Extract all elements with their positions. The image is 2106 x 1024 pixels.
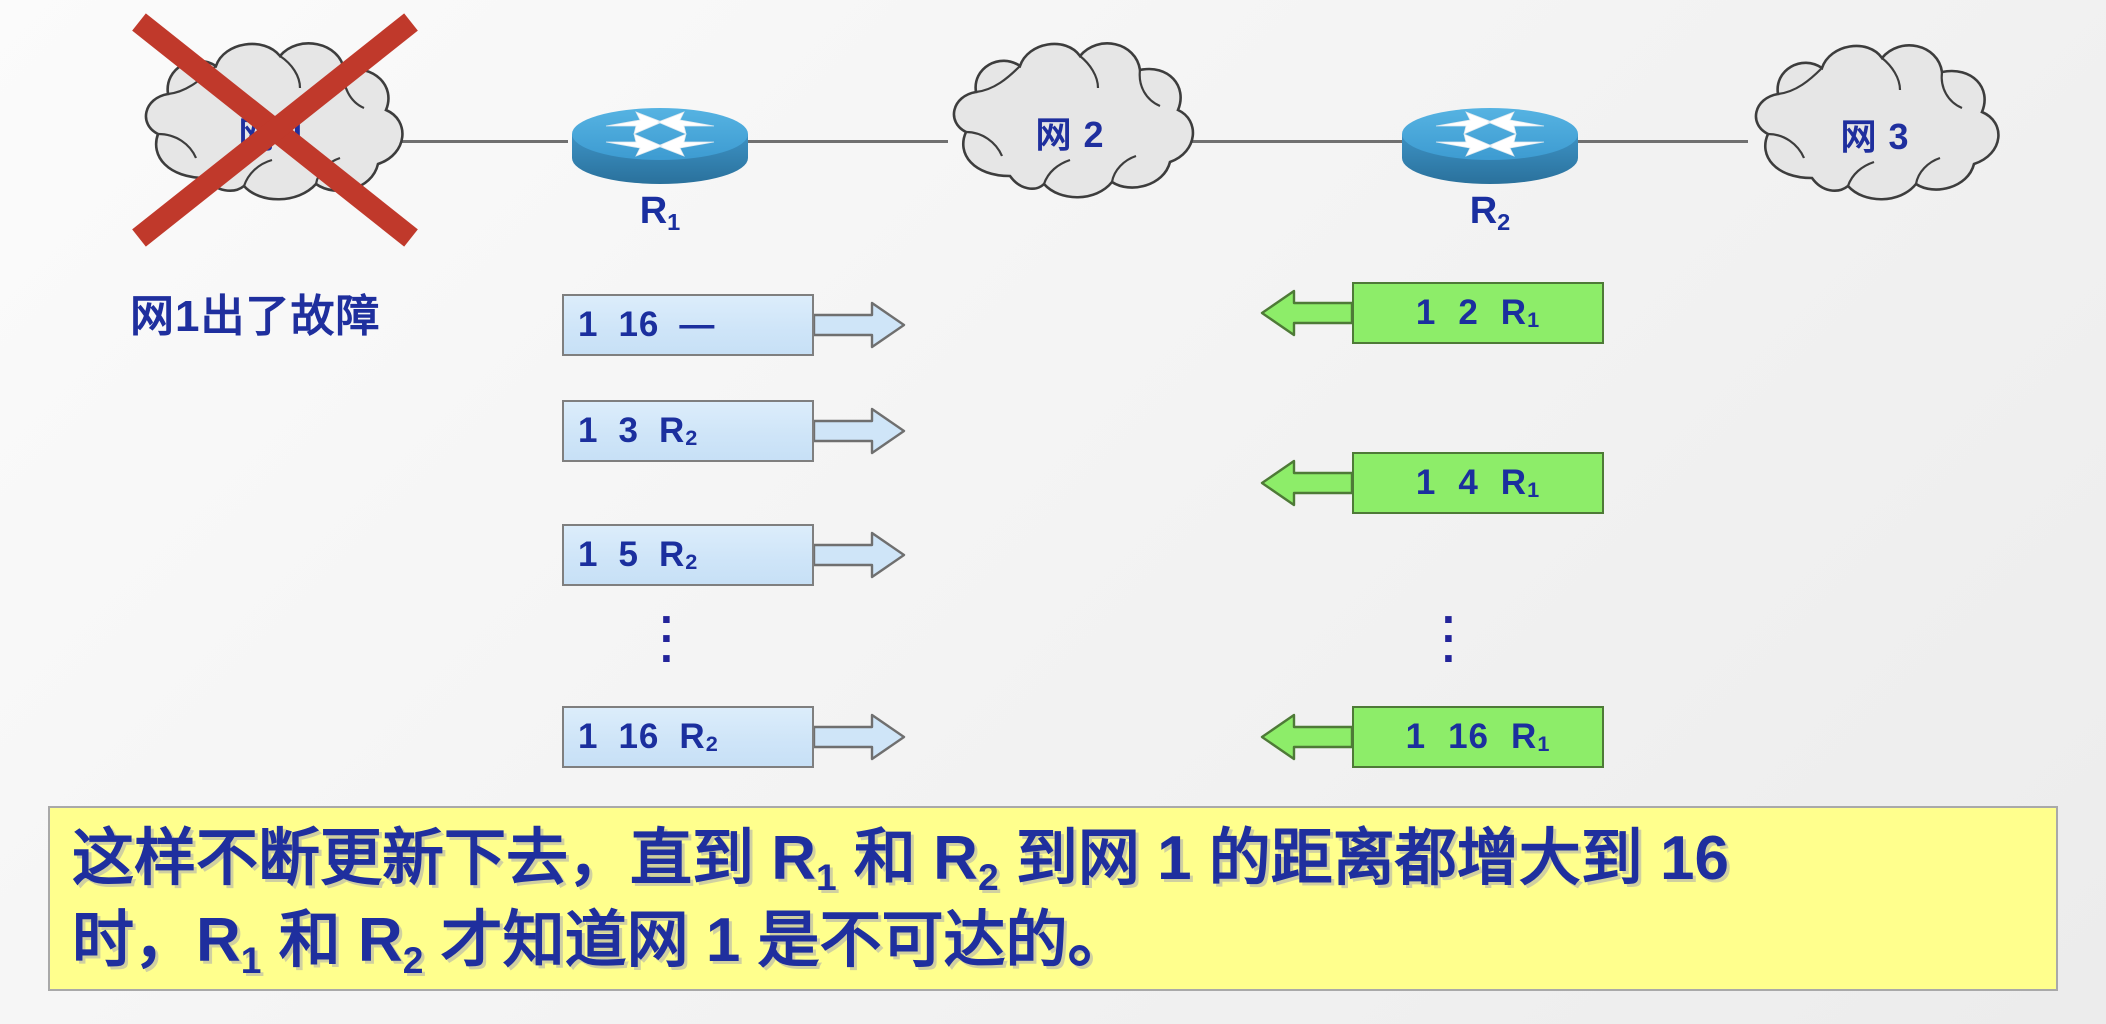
arrow-right-icon xyxy=(814,407,906,455)
cloud-net2: 网 2 xyxy=(940,28,1200,218)
msg-net: 1 xyxy=(1406,717,1426,757)
router-r2-name: R xyxy=(1470,190,1497,232)
message-box-green: 1 16 R1 xyxy=(1352,706,1604,768)
msg-net: 1 xyxy=(578,717,598,757)
message-box-green: 1 2 R1 xyxy=(1352,282,1604,344)
router-r1-label: R1 xyxy=(570,190,750,233)
caption-text: 和 R xyxy=(837,824,978,893)
cloud-net3-label: 网 3 xyxy=(1740,108,2010,160)
msg-distance: 16 xyxy=(618,305,659,345)
caption-text: 到网 1 的距离都增大到 16 xyxy=(999,824,1729,893)
caption-text: 才知道网 1 是不可达的。 xyxy=(423,906,1129,975)
msg-nexthop: R xyxy=(1501,293,1527,333)
msg-nexthop: R xyxy=(1511,717,1537,757)
caption-sub: 2 xyxy=(978,856,999,898)
msg-distance: 5 xyxy=(618,535,638,575)
ellipsis-right: · · · xyxy=(1442,610,1457,668)
router-r1-name: R xyxy=(640,190,667,232)
msg-nexthop-sub: 1 xyxy=(1537,731,1550,757)
message-row-left-1: 1 16 — xyxy=(562,294,906,356)
router-r1: R1 xyxy=(570,100,750,190)
caption-text: 时，R xyxy=(72,906,241,975)
message-box-green: 1 4 R1 xyxy=(1352,452,1604,514)
ellipsis-left: · · · xyxy=(660,610,675,668)
message-box-blue: 1 16 R2 xyxy=(562,706,814,768)
cloud-net2-label: 网 2 xyxy=(940,106,1200,158)
cloud-net1-label: 网 1 xyxy=(128,106,418,158)
dot: · xyxy=(660,649,675,668)
message-box-blue: 1 3 R2 xyxy=(562,400,814,462)
arrow-right-icon xyxy=(814,301,906,349)
msg-distance: 2 xyxy=(1458,293,1478,333)
message-row-left-2: 1 3 R2 xyxy=(562,400,906,462)
message-row-right-1: 1 2 R1 xyxy=(1260,282,1604,344)
msg-nexthop-sub: 1 xyxy=(1527,307,1540,333)
failure-note: 网1出了故障 xyxy=(130,280,380,344)
cloud-net3: 网 3 xyxy=(1740,28,2010,218)
msg-distance: 4 xyxy=(1458,463,1478,503)
link-net2-r2 xyxy=(1190,140,1410,143)
msg-nexthop-sub: 1 xyxy=(1527,477,1540,503)
msg-nexthop: R xyxy=(659,411,685,451)
link-net1-r1 xyxy=(402,140,568,143)
msg-net: 1 xyxy=(1416,463,1436,503)
router-r1-index: 1 xyxy=(667,209,680,235)
message-row-left-4: 1 16 R2 xyxy=(562,706,906,768)
msg-net: 1 xyxy=(578,305,598,345)
message-row-left-3: 1 5 R2 xyxy=(562,524,906,586)
msg-net: 1 xyxy=(578,535,598,575)
caption-line-1: 这样不断更新下去，直到 R1 和 R2 到网 1 的距离都增大到 16 xyxy=(72,818,2034,900)
msg-net: 1 xyxy=(578,411,598,451)
arrow-left-icon xyxy=(1260,713,1352,761)
caption-sub: 2 xyxy=(403,939,424,981)
msg-net: 1 xyxy=(1416,293,1436,333)
slide-canvas: 网 1 xyxy=(0,0,2106,1024)
arrow-left-icon xyxy=(1260,289,1352,337)
router-r2-label: R2 xyxy=(1400,190,1580,233)
caption-box: 这样不断更新下去，直到 R1 和 R2 到网 1 的距离都增大到 16 时，R1… xyxy=(48,806,2058,991)
msg-nexthop-sub: 2 xyxy=(706,731,719,757)
message-box-blue: 1 16 — xyxy=(562,294,814,356)
caption-text: 这样不断更新下去，直到 R xyxy=(72,824,816,893)
arrow-left-icon xyxy=(1260,459,1352,507)
msg-nexthop-sub: 2 xyxy=(685,425,698,451)
caption-text: 和 R xyxy=(261,906,402,975)
msg-nexthop: R xyxy=(659,535,685,575)
msg-distance: 16 xyxy=(1448,717,1489,757)
msg-nexthop: — xyxy=(679,305,715,345)
dot: · xyxy=(1442,649,1457,668)
router-r2: R2 xyxy=(1400,100,1580,190)
router-r2-index: 2 xyxy=(1497,209,1510,235)
message-row-right-2: 1 4 R1 xyxy=(1260,452,1604,514)
caption-line-2: 时，R1 和 R2 才知道网 1 是不可达的。 xyxy=(72,900,2034,982)
msg-nexthop: R xyxy=(679,717,705,757)
msg-nexthop-sub: 2 xyxy=(685,549,698,575)
msg-nexthop: R xyxy=(1501,463,1527,503)
message-row-right-3: 1 16 R1 xyxy=(1260,706,1604,768)
caption-sub: 1 xyxy=(816,856,837,898)
msg-distance: 16 xyxy=(618,717,659,757)
arrow-right-icon xyxy=(814,531,906,579)
cloud-net1: 网 1 xyxy=(128,28,418,218)
caption-sub: 1 xyxy=(241,939,262,981)
message-box-blue: 1 5 R2 xyxy=(562,524,814,586)
link-r1-net2 xyxy=(748,140,948,143)
link-r2-net3 xyxy=(1578,140,1748,143)
msg-distance: 3 xyxy=(618,411,638,451)
arrow-right-icon xyxy=(814,713,906,761)
